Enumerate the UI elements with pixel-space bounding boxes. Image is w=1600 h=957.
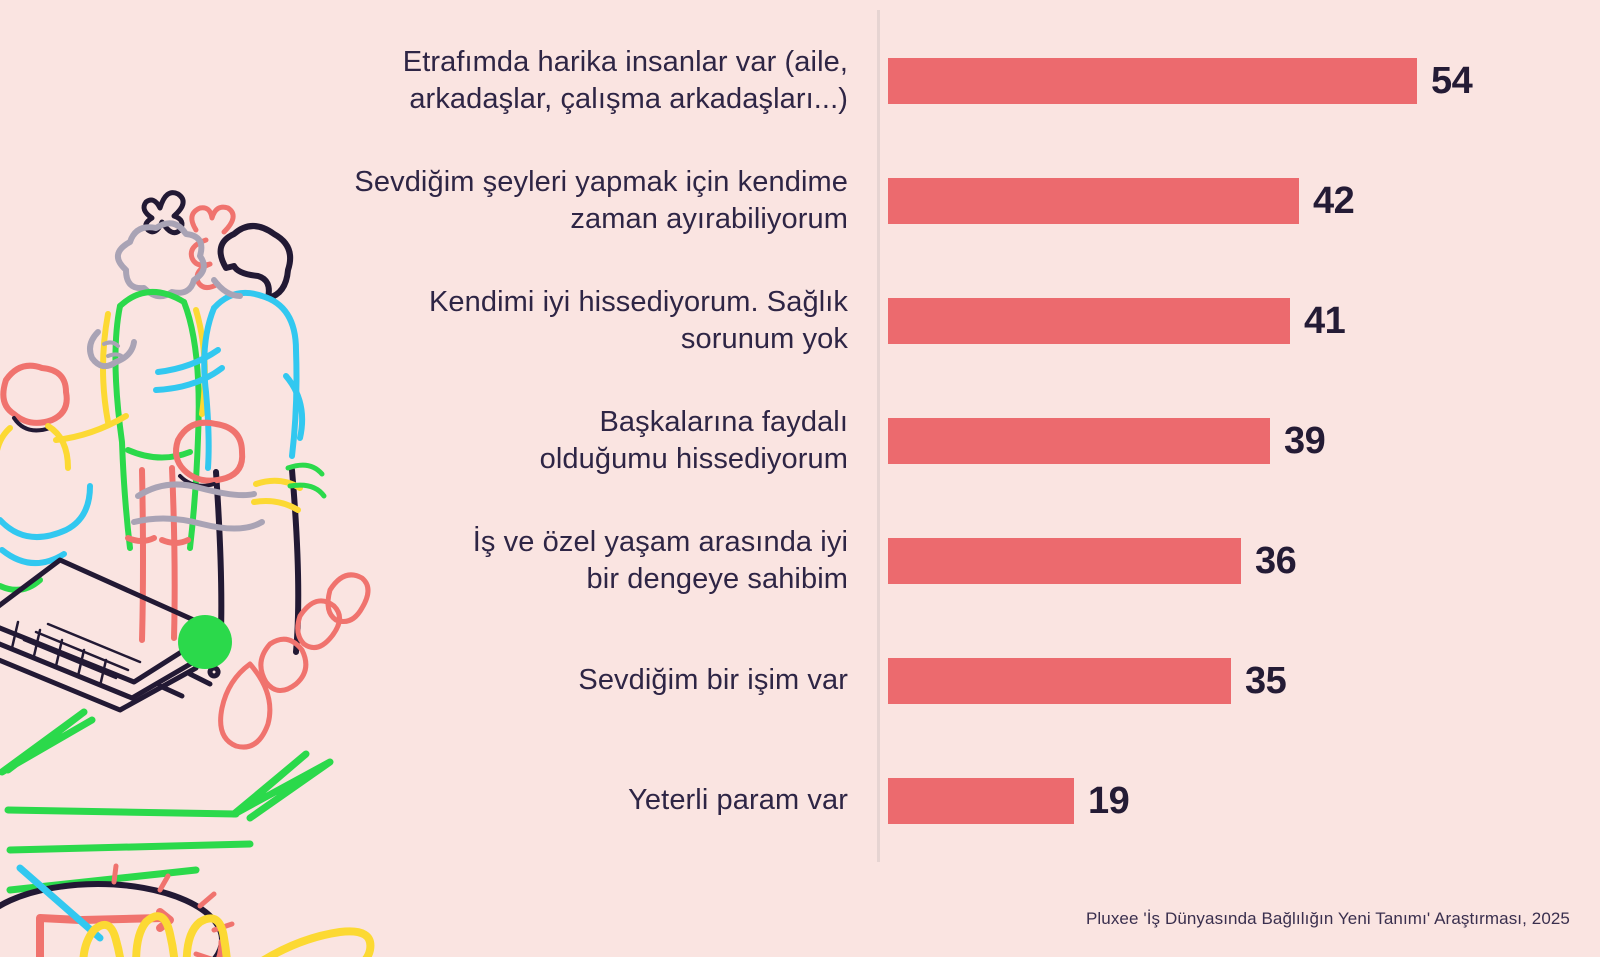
source-credit: Pluxee 'İş Dünyasında Bağlılığın Yeni Ta… [1086,909,1570,929]
chart-row: Kendimi iyi hissediyorum. Sağlık sorunum… [0,298,1600,344]
bar [888,538,1241,584]
bar-category-label: Kendimi iyi hissediyorum. Sağlık sorunum… [228,284,848,358]
bar [888,298,1290,344]
chart-row: Sevdiğim bir işim var 35 [0,658,1600,704]
bar-category-label: İş ve özel yaşam arasında iyi bir dengey… [228,524,848,598]
chart-row: Sevdiğim şeyleri yapmak için kendime zam… [0,178,1600,224]
bar-value-label: 39 [1284,422,1325,460]
bar-group: 39 [888,418,1325,464]
chart-row: İş ve özel yaşam arasında iyi bir dengey… [0,538,1600,584]
chart-row: Başkalarına faydalı olduğumu hissediyoru… [0,418,1600,464]
bar [888,178,1299,224]
bar-group: 54 [888,58,1472,104]
bar-group: 41 [888,298,1345,344]
bar [888,418,1270,464]
bar-value-label: 36 [1255,542,1296,580]
hand-icon [83,916,417,957]
bar-value-label: 54 [1431,62,1472,100]
bar-value-label: 42 [1313,182,1354,220]
bar-category-label: Etrafımda harika insanlar var (aile, ark… [228,44,848,118]
bar [888,58,1417,104]
chart-row: Etrafımda harika insanlar var (aile, ark… [0,58,1600,104]
bar-category-label: Yeterli param var [228,782,848,819]
bar-category-label: Başkalarına faydalı olduğumu hissediyoru… [228,404,848,478]
bar-value-label: 35 [1245,662,1286,700]
bar-value-label: 41 [1304,302,1345,340]
bar-group: 36 [888,538,1296,584]
infographic-root: Etrafımda harika insanlar var (aile, ark… [0,0,1600,957]
bar-group: 35 [888,658,1286,704]
bar-value-label: 19 [1088,782,1129,820]
bar-chart: Etrafımda harika insanlar var (aile, ark… [0,0,1600,880]
bar-group: 19 [888,778,1129,824]
bar [888,778,1074,824]
bar-category-label: Sevdiğim bir işim var [228,662,848,699]
bar-category-label: Sevdiğim şeyleri yapmak için kendime zam… [228,164,848,238]
chart-row: Yeterli param var 19 [0,778,1600,824]
bar [888,658,1231,704]
bar-group: 42 [888,178,1354,224]
